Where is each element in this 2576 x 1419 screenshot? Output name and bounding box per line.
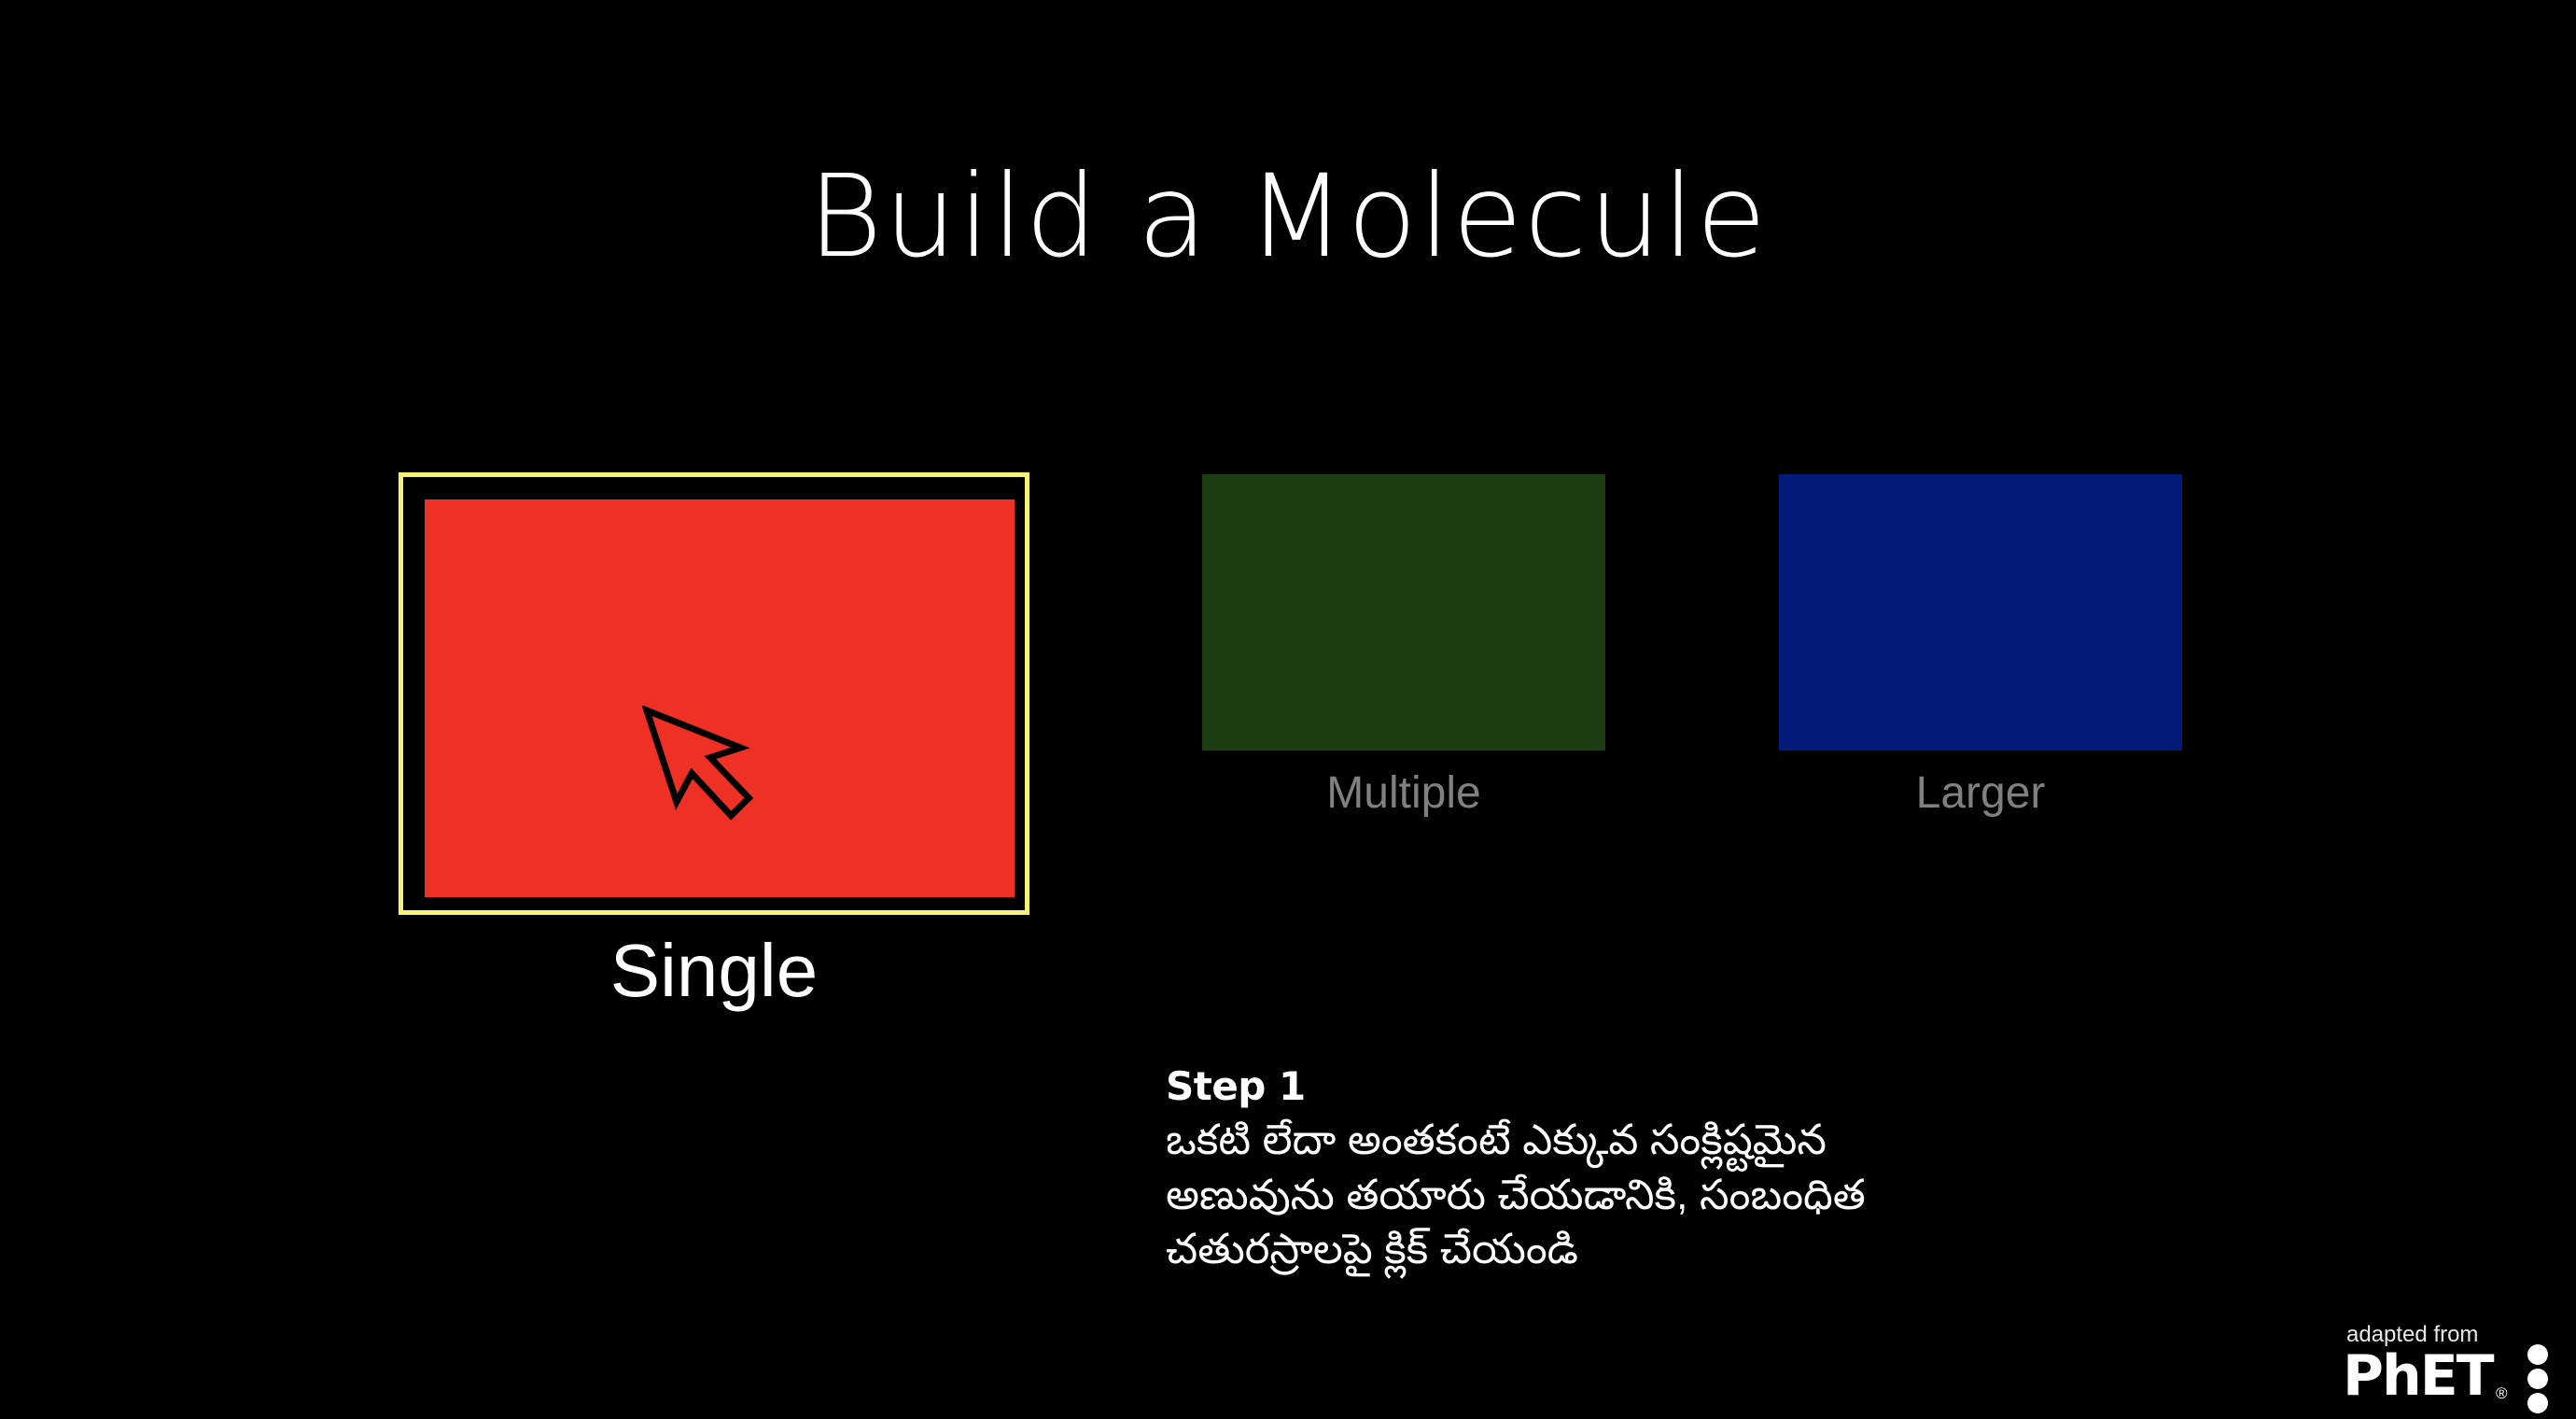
phet-wordmark: PhET xyxy=(2343,1348,2493,1404)
phet-dot xyxy=(2527,1369,2548,1389)
page-title: Build a Molecule xyxy=(0,151,2576,282)
color-swatch-single[interactable] xyxy=(425,499,1015,897)
instruction-line-1: ఒకటి లేదా అంతకంటే ఎక్కువ సంక్లిష్టమైన xyxy=(1166,1113,2286,1168)
instruction-block: Step 1 ఒకటి లేదా అంతకంటే ఎక్కువ సంక్లిష్… xyxy=(1166,1066,2286,1277)
option-label-single: Single xyxy=(399,934,1029,1008)
instruction-line-2: అణువును తయారు చేయడానికి, సంబంధిత xyxy=(1166,1168,2286,1223)
option-card-single[interactable]: Single xyxy=(399,472,1029,915)
phet-dot xyxy=(2527,1344,2548,1365)
option-card-multiple[interactable]: Multiple xyxy=(1202,474,1605,751)
phet-dot xyxy=(2527,1393,2548,1413)
phet-attribution-logo[interactable]: adapted from PhET ® xyxy=(2330,1324,2565,1410)
color-swatch-multiple[interactable] xyxy=(1202,474,1605,751)
step-heading: Step 1 xyxy=(1166,1066,2286,1107)
option-label-larger: Larger xyxy=(1723,771,2238,816)
selection-highlight-frame xyxy=(399,472,1029,915)
color-swatch-larger[interactable] xyxy=(1779,474,2182,751)
option-card-larger[interactable]: Larger xyxy=(1779,474,2182,751)
option-label-multiple: Multiple xyxy=(1146,771,1661,816)
registered-trademark-icon: ® xyxy=(2496,1385,2508,1401)
instruction-line-3: చతురస్రాలపై క్లిక్ చేయండి xyxy=(1166,1222,2286,1277)
phet-dots-icon xyxy=(2527,1344,2559,1413)
